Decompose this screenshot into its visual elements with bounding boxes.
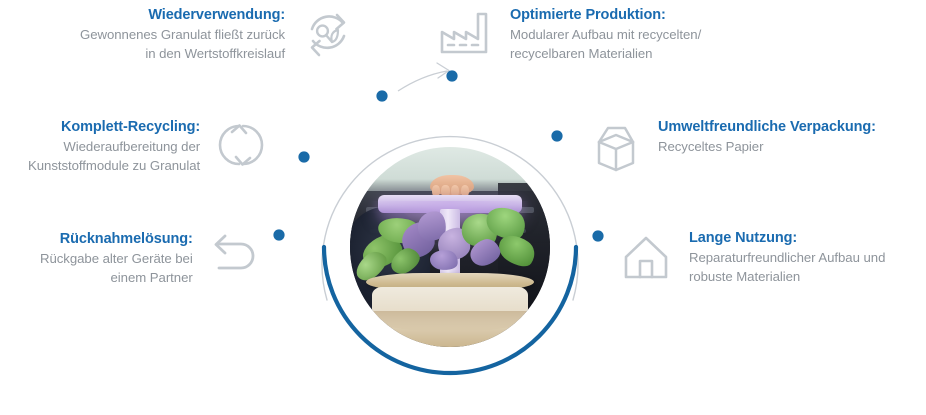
ring-dot-lange-nutzung xyxy=(592,230,603,241)
arrow-right-head-icon xyxy=(437,63,449,78)
item-title: Rücknahmelösung: xyxy=(60,230,193,249)
house-icon xyxy=(617,229,675,287)
ring-dot-komplett-recycling xyxy=(298,151,309,162)
package-box-icon xyxy=(588,118,644,174)
item-lange-nutzung: Lange Nutzung: Reparaturfreundlicher Auf… xyxy=(617,229,885,287)
return-arrow-icon xyxy=(207,230,263,280)
ring-arc-blue xyxy=(324,247,576,373)
item-title: Umweltfreundliche Verpackung: xyxy=(658,118,876,137)
flow-arrow-line xyxy=(398,71,447,91)
item-description: Wiederaufbereitung der Kunststoffmodule … xyxy=(28,137,200,175)
smart-indoor-garden-photo xyxy=(350,147,550,347)
item-ruecknahmeloesung: Rücknahmelösung: Rückgabe alter Geräte b… xyxy=(40,230,263,287)
ring-dot-verpackung xyxy=(551,130,562,141)
item-description: Gewonnenes Granulat fließt zurück in den… xyxy=(80,25,285,63)
item-komplett-recycling: Komplett-Recycling: Wiederaufbereitung d… xyxy=(28,118,268,175)
item-title: Lange Nutzung: xyxy=(689,229,797,248)
item-wiederverwendung: Wiederverwendung: Gewonnenes Granulat fl… xyxy=(80,6,357,64)
ring-dot-wiederverwendung xyxy=(376,90,387,101)
infographic-canvas: Wiederverwendung: Gewonnenes Granulat fl… xyxy=(0,0,926,415)
ring-arc-gray xyxy=(322,137,578,300)
item-description: Recyceltes Papier xyxy=(658,137,763,156)
recycle-loop-icon xyxy=(214,118,268,172)
item-umweltfreundliche-verpackung: Umweltfreundliche Verpackung: Recyceltes… xyxy=(588,118,876,174)
ring-dot-optimierte-produktion xyxy=(446,70,457,81)
item-description: Reparaturfreundlicher Aufbau und robuste… xyxy=(689,248,885,286)
recycle-plant-icon xyxy=(299,6,357,64)
factory-icon xyxy=(436,6,496,64)
item-description: Rückgabe alter Geräte bei einem Partner xyxy=(40,249,193,287)
item-title: Komplett-Recycling: xyxy=(61,118,200,137)
ring-dot-ruecknahmeloesung xyxy=(273,229,284,240)
item-title: Optimierte Produktion: xyxy=(510,6,666,25)
item-title: Wiederverwendung: xyxy=(148,6,285,25)
item-description: Modularer Aufbau mit recycelten/ recycel… xyxy=(510,25,701,63)
item-optimierte-produktion: Optimierte Produktion: Modularer Aufbau … xyxy=(436,6,701,64)
